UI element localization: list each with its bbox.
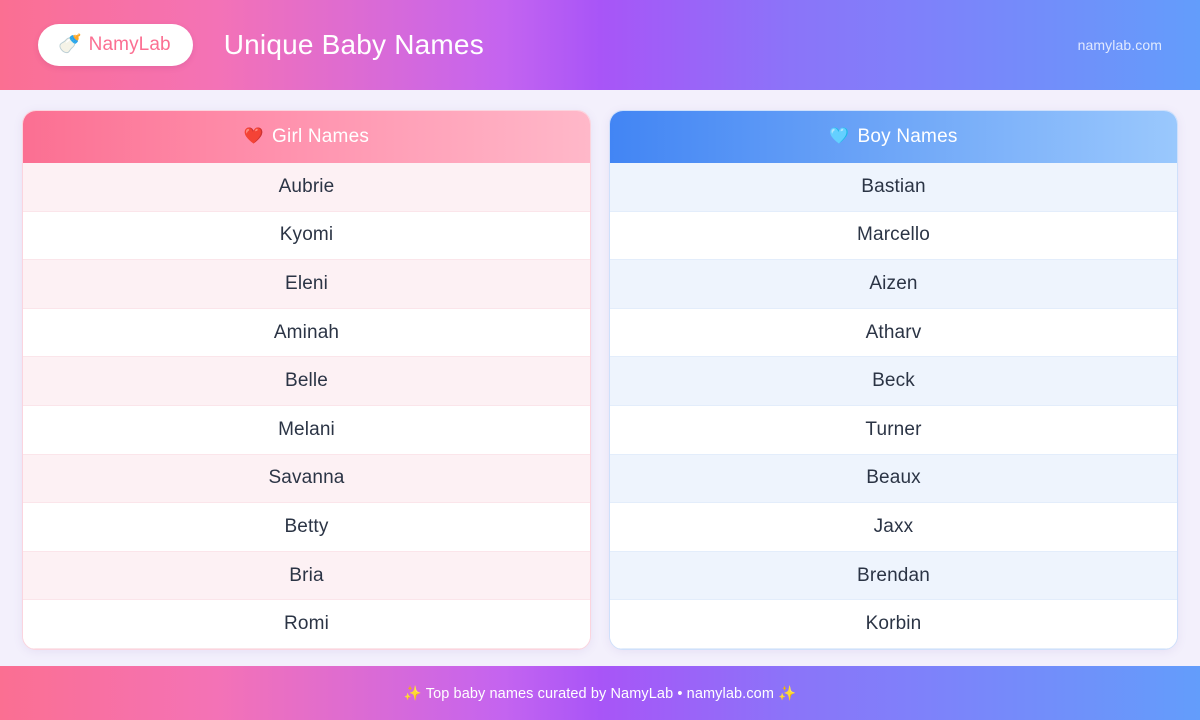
list-item[interactable]: Beck xyxy=(610,357,1177,406)
list-item[interactable]: Savanna xyxy=(23,455,590,504)
list-item[interactable]: Eleni xyxy=(23,260,590,309)
list-item[interactable]: Beaux xyxy=(610,455,1177,504)
list-item[interactable]: Turner xyxy=(610,406,1177,455)
list-item[interactable]: Romi xyxy=(23,600,590,649)
list-item[interactable]: Aminah xyxy=(23,309,590,358)
red-heart-icon: ❤️ xyxy=(244,129,264,145)
brand-name-label: NamyLab xyxy=(89,34,171,56)
list-item[interactable]: Bria xyxy=(23,552,590,601)
list-item[interactable]: Belle xyxy=(23,357,590,406)
girl-names-list: Aubrie Kyomi Eleni Aminah Belle Melani S… xyxy=(23,163,590,649)
app-root: 🍼 NamyLab Unique Baby Names namylab.com … xyxy=(0,0,1200,720)
list-item[interactable]: Atharv xyxy=(610,309,1177,358)
name-columns-container: ❤️ Girl Names Aubrie Kyomi Eleni Aminah … xyxy=(0,90,1200,666)
brand-logo-badge[interactable]: 🍼 NamyLab xyxy=(38,24,193,66)
girl-names-card: ❤️ Girl Names Aubrie Kyomi Eleni Aminah … xyxy=(22,110,591,650)
list-item[interactable]: Jaxx xyxy=(610,503,1177,552)
list-item[interactable]: Melani xyxy=(23,406,590,455)
footer-caption: ✨ Top baby names curated by NamyLab • na… xyxy=(404,685,797,702)
list-item[interactable]: Kyomi xyxy=(23,212,590,261)
girl-names-title: Girl Names xyxy=(272,126,369,148)
list-item[interactable]: Bastian xyxy=(610,163,1177,212)
boy-names-title: Boy Names xyxy=(858,126,958,148)
list-item[interactable]: Marcello xyxy=(610,212,1177,261)
light-blue-heart-icon: 🩵 xyxy=(829,129,849,145)
girl-names-card-header: ❤️ Girl Names xyxy=(23,111,590,163)
boy-names-card: 🩵 Boy Names Bastian Marcello Aizen Athar… xyxy=(609,110,1178,650)
list-item[interactable]: Aubrie xyxy=(23,163,590,212)
list-item[interactable]: Korbin xyxy=(610,600,1177,649)
page-header: 🍼 NamyLab Unique Baby Names namylab.com xyxy=(0,0,1200,90)
list-item[interactable]: Aizen xyxy=(610,260,1177,309)
list-item[interactable]: Brendan xyxy=(610,552,1177,601)
list-item[interactable]: Betty xyxy=(23,503,590,552)
boy-names-card-header: 🩵 Boy Names xyxy=(610,111,1177,163)
site-url-label: namylab.com xyxy=(1078,37,1176,53)
boy-names-list: Bastian Marcello Aizen Atharv Beck Turne… xyxy=(610,163,1177,649)
page-title: Unique Baby Names xyxy=(224,29,484,61)
baby-bottle-icon: 🍼 xyxy=(58,35,82,54)
page-footer: ✨ Top baby names curated by NamyLab • na… xyxy=(0,666,1200,720)
